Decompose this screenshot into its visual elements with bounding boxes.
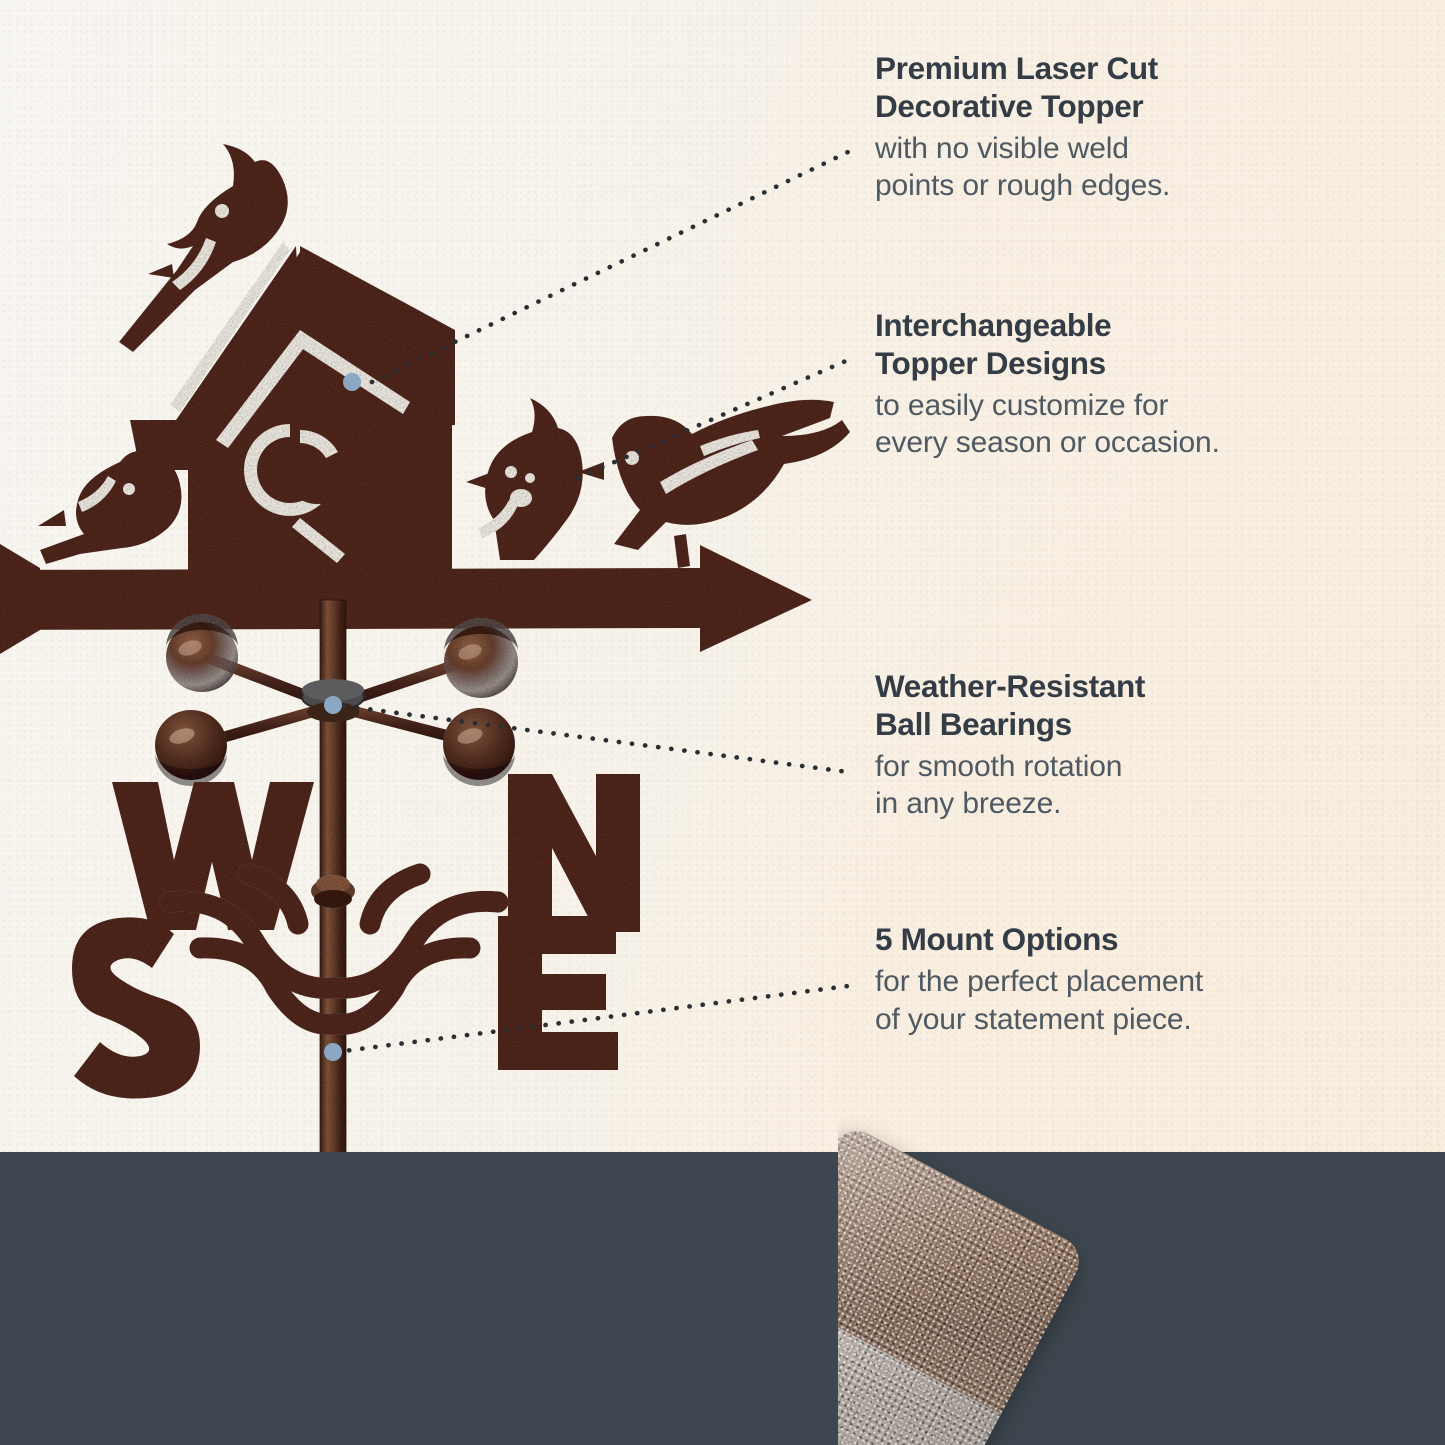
infographic-canvas: Premium Laser Cut Decorative Topper with… bbox=[0, 0, 1445, 1445]
callout-heading: Interchangeable Topper Designs bbox=[875, 307, 1375, 383]
coating-swatch-area bbox=[838, 1108, 1438, 1445]
direction-letter-e bbox=[498, 916, 618, 1070]
bird-cardinal-right bbox=[466, 398, 583, 560]
three-layer-coating-swatch bbox=[838, 1122, 1088, 1445]
leader-dot bbox=[324, 696, 342, 714]
center-bearing-collar bbox=[311, 875, 355, 908]
arrow-tail bbox=[0, 520, 40, 678]
leader-dot bbox=[324, 1043, 342, 1061]
bird-flying-right bbox=[578, 400, 850, 568]
direction-letter-s bbox=[72, 917, 200, 1098]
leader-dot bbox=[343, 373, 361, 391]
callout-body: for the perfect placement of your statem… bbox=[875, 963, 1385, 1039]
callout-heading: Weather-Resistant Ball Bearings bbox=[875, 668, 1345, 744]
direction-indicator bbox=[72, 774, 640, 1099]
callout-five-mount-options: 5 Mount Options for the perfect placemen… bbox=[875, 921, 1385, 1038]
bird-eye bbox=[215, 204, 229, 218]
callout-heading: Premium Laser Cut Decorative Topper bbox=[875, 50, 1345, 126]
bird-small-left bbox=[38, 451, 182, 564]
callout-premium-laser-cut: Premium Laser Cut Decorative Topper with… bbox=[875, 50, 1345, 205]
callout-weather-resistant-bearings: Weather-Resistant Ball Bearings for smoo… bbox=[875, 668, 1345, 823]
callout-body: to easily customize for every season or … bbox=[875, 387, 1375, 463]
swatch-gloss bbox=[838, 1122, 1088, 1445]
leader-line-bearings bbox=[344, 706, 848, 772]
decorative-topper bbox=[0, 144, 850, 678]
leader-line-topper bbox=[372, 152, 848, 382]
direction-letter-n bbox=[508, 774, 640, 932]
callout-interchangeable-topper: Interchangeable Topper Designs to easily… bbox=[875, 307, 1375, 462]
callout-body: for smooth rotation in any breeze. bbox=[875, 748, 1345, 824]
callout-heading: 5 Mount Options bbox=[875, 921, 1385, 959]
callout-body: with no visible weld points or rough edg… bbox=[875, 130, 1345, 206]
